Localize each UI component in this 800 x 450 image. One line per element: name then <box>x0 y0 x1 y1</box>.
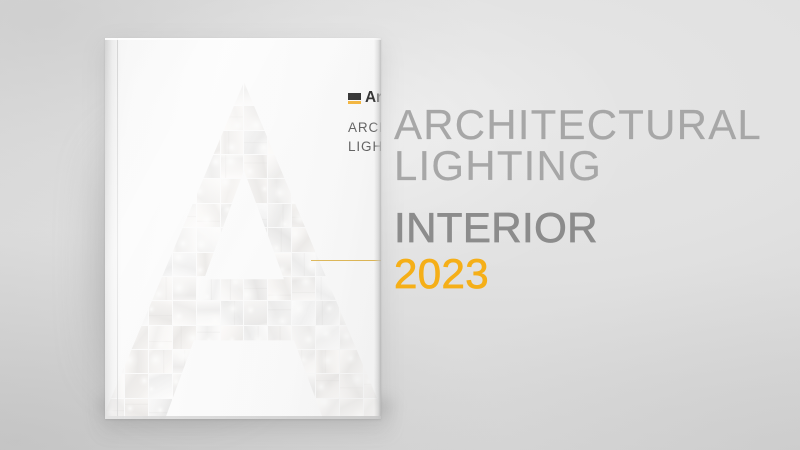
mosaic-tile <box>125 131 148 154</box>
mosaic-tile <box>268 204 291 227</box>
mosaic-tile <box>197 277 220 300</box>
mosaic-tile <box>125 155 148 178</box>
mosaic-tile <box>173 253 196 276</box>
mosaic-tile <box>316 204 339 227</box>
mosaic-tile <box>125 179 148 202</box>
mosaic-tile <box>268 374 291 397</box>
mosaic-tile <box>149 301 172 324</box>
mosaic-tile <box>197 374 220 397</box>
mosaic-tile <box>221 277 244 300</box>
mosaic-tile <box>340 326 363 349</box>
mosaic-tile <box>244 326 267 349</box>
mosaic-tile <box>149 253 172 276</box>
arcluce-logo-mark-icon <box>348 93 361 104</box>
mosaic-tile <box>197 204 220 227</box>
hero-headline: ARCHITECTURAL LIGHTING INTERIOR 2023 <box>394 104 784 295</box>
cover-section-tag: INTERIOR <box>311 244 381 261</box>
mosaic-tile <box>149 326 172 349</box>
mosaic-tile <box>244 374 267 397</box>
mosaic-tile <box>316 106 339 129</box>
mosaic-tile <box>340 301 363 324</box>
mosaic-tile <box>292 301 315 324</box>
mosaic-tile <box>173 228 196 251</box>
mosaic-tile <box>197 350 220 373</box>
mosaic-tile <box>244 82 267 105</box>
mosaic-tile <box>316 131 339 154</box>
mosaic-tile <box>197 106 220 129</box>
mosaic-tile <box>292 131 315 154</box>
mosaic-tile <box>149 155 172 178</box>
mosaic-tile <box>292 277 315 300</box>
mosaic-tile <box>149 374 172 397</box>
book-fore-edge <box>374 38 381 419</box>
mosaic-tile <box>340 179 363 202</box>
mosaic-tile <box>221 301 244 324</box>
mosaic-tile <box>173 277 196 300</box>
mosaic-tile <box>268 179 291 202</box>
headline-architectural-lighting: ARCHITECTURAL LIGHTING <box>394 104 784 186</box>
book-spine-shading <box>105 38 121 419</box>
mosaic-tile <box>173 179 196 202</box>
mosaic-tile <box>173 301 196 324</box>
mosaic-tile <box>268 82 291 105</box>
mosaic-tile <box>149 179 172 202</box>
mosaic-tile <box>173 106 196 129</box>
mosaic-tile <box>316 82 339 105</box>
mosaic-tile <box>316 350 339 373</box>
mosaic-tile <box>340 155 363 178</box>
mosaic-tile <box>173 350 196 373</box>
mosaic-tile <box>197 179 220 202</box>
mosaic-tile <box>268 155 291 178</box>
mosaic-tile <box>173 326 196 349</box>
mosaic-tile <box>221 326 244 349</box>
mosaic-tile <box>125 82 148 105</box>
mosaic-tile <box>292 179 315 202</box>
book-top-edge <box>105 38 381 40</box>
mosaic-tile <box>268 301 291 324</box>
catalogue-book-cover[interactable]: Arcluce ARCHITECTURAL LIGHTING INTERIOR <box>105 38 381 419</box>
mosaic-tile <box>244 350 267 373</box>
mosaic-tile <box>268 131 291 154</box>
mosaic-tile <box>244 301 267 324</box>
headline-interior: INTERIOR <box>394 207 784 249</box>
mosaic-tile <box>316 301 339 324</box>
mosaic-tile <box>149 350 172 373</box>
mosaic-tile <box>244 106 267 129</box>
mosaic-tile <box>197 131 220 154</box>
mosaic-tile <box>125 253 148 276</box>
mosaic-tile <box>340 350 363 373</box>
mosaic-tile <box>173 155 196 178</box>
mosaic-tile <box>316 277 339 300</box>
cover-section-rule <box>311 260 381 261</box>
mosaic-tile <box>316 155 339 178</box>
catalogue-hero-scene: Arcluce ARCHITECTURAL LIGHTING INTERIOR … <box>0 0 800 450</box>
mosaic-tile <box>173 204 196 227</box>
mosaic-tile <box>316 326 339 349</box>
mosaic-tile <box>173 82 196 105</box>
book-bottom-edge <box>105 416 381 419</box>
mosaic-tile <box>244 131 267 154</box>
mosaic-tile <box>149 277 172 300</box>
cover-artwork <box>105 38 381 419</box>
mosaic-tile <box>292 204 315 227</box>
mosaic-tile <box>292 326 315 349</box>
mosaic-tile <box>316 179 339 202</box>
mosaic-tile <box>340 204 363 227</box>
mosaic-tile <box>125 326 148 349</box>
mosaic-tile <box>125 204 148 227</box>
headline-year: 2023 <box>394 253 784 295</box>
mosaic-tile <box>221 374 244 397</box>
mosaic-tile <box>292 106 315 129</box>
mosaic-tile <box>292 155 315 178</box>
mosaic-tile <box>149 228 172 251</box>
mosaic-tile <box>125 301 148 324</box>
mosaic-tile <box>244 155 267 178</box>
mosaic-tile <box>221 82 244 105</box>
mosaic-tile <box>173 374 196 397</box>
mosaic-tile <box>173 131 196 154</box>
mosaic-tile <box>221 131 244 154</box>
mosaic-tile <box>149 106 172 129</box>
mosaic-tile <box>244 277 267 300</box>
mosaic-tile <box>149 204 172 227</box>
cover-section-label: INTERIOR <box>311 244 381 255</box>
book-spine-crease <box>117 38 118 419</box>
mosaic-tile <box>221 350 244 373</box>
mosaic-tile <box>197 301 220 324</box>
mosaic-tile <box>340 374 363 397</box>
mosaic-tile <box>125 277 148 300</box>
mosaic-tile <box>316 374 339 397</box>
mosaic-tile <box>125 350 148 373</box>
mosaic-tile <box>125 228 148 251</box>
mosaic-tile <box>340 277 363 300</box>
mosaic-tile <box>292 350 315 373</box>
mosaic-tile <box>221 106 244 129</box>
mosaic-tile <box>125 106 148 129</box>
mosaic-tile <box>292 82 315 105</box>
mosaic-tile <box>221 155 244 178</box>
mosaic-tile <box>149 131 172 154</box>
mosaic-tile <box>268 326 291 349</box>
mosaic-tile <box>268 350 291 373</box>
mosaic-tile <box>268 106 291 129</box>
mosaic-tile <box>197 155 220 178</box>
mosaic-tile <box>292 374 315 397</box>
mosaic-tile <box>268 277 291 300</box>
mosaic-tile <box>197 326 220 349</box>
mosaic-tile <box>125 374 148 397</box>
mosaic-tile <box>149 82 172 105</box>
mosaic-tile <box>197 82 220 105</box>
